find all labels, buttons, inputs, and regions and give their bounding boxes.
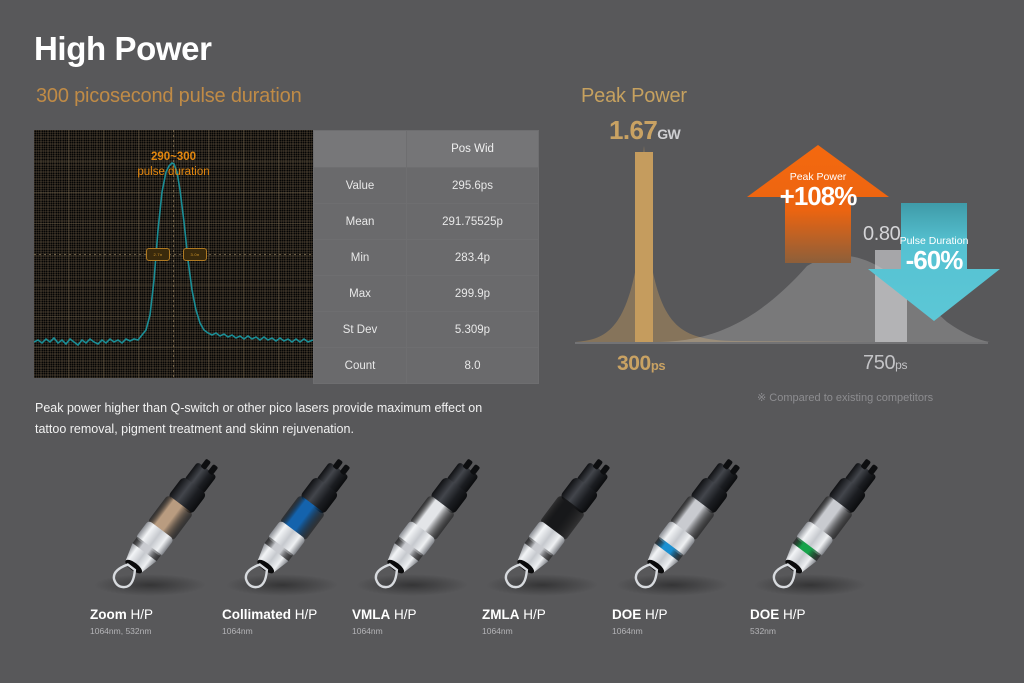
x-tick-competitor: 750ps (863, 352, 907, 375)
handpiece-model: Collimated (222, 607, 291, 622)
handpiece-gallery: Zoom H/P1064nm, 532nmCollimated H/P1064n… (0, 445, 1024, 683)
handpiece-image (612, 445, 762, 605)
x-tick-unit-this-device: ps (651, 358, 665, 373)
row-value: 291.75525p (407, 204, 539, 240)
page-subtitle: 300 picosecond pulse duration (36, 85, 302, 108)
table-header-row: Pos Wid (314, 131, 539, 168)
peak-power-section-title: Peak Power (581, 85, 687, 108)
value-label-this-device: 1.67GW (609, 115, 680, 146)
handpiece-suffix: H/P (783, 607, 806, 622)
row-label: Max (314, 276, 407, 312)
table-row[interactable]: Mean291.75525p (314, 204, 539, 240)
row-label: Mean (314, 204, 407, 240)
handpiece-model: DOE (750, 607, 779, 622)
table-row[interactable]: Max299.9p (314, 276, 539, 312)
slide-root: High Power 300 picosecond pulse duration… (0, 0, 1024, 683)
arrow-down-value: -60% (868, 245, 1000, 276)
table-body: Value295.6psMean291.75525pMin283.4pMax29… (314, 168, 539, 384)
handpiece-image (482, 445, 632, 605)
handpiece-suffix: H/P (295, 607, 318, 622)
handpiece-item[interactable]: DOE H/P532nm (750, 445, 900, 605)
handpiece-item[interactable]: ZMLA H/P1064nm (482, 445, 632, 605)
row-value: 8.0 (407, 348, 539, 384)
table-header: Pos Wid (314, 131, 539, 168)
handpiece-item[interactable]: Zoom H/P1064nm, 532nm (90, 445, 240, 605)
x-tick-number-this-device: 300 (617, 352, 651, 375)
x-tick-this-device: 300ps (617, 352, 665, 376)
table-row[interactable]: Min283.4p (314, 240, 539, 276)
value-number-this-device: 1.67 (609, 115, 657, 145)
bar-this-device (635, 152, 653, 342)
body-copy: Peak power higher than Q-switch or other… (35, 398, 515, 440)
value-unit-this-device: GW (657, 126, 680, 142)
measurement-table: Pos Wid Value295.6psMean291.75525pMin283… (313, 130, 539, 384)
handpiece-item[interactable]: Collimated H/P1064nm (222, 445, 372, 605)
page-title: High Power (34, 30, 212, 68)
handpiece-name: DOE H/P (750, 607, 920, 622)
handpiece-model: Zoom (90, 607, 127, 622)
row-value: 295.6ps (407, 168, 539, 204)
handpiece-wavelength: 532nm (750, 626, 920, 636)
oscilloscope-screen: 290~300 pulse duration 2.7n 3.0n (34, 130, 313, 378)
handpiece-item[interactable]: DOE H/P1064nm (612, 445, 762, 605)
table-row[interactable]: Count8.0 (314, 348, 539, 384)
row-label: Count (314, 348, 407, 384)
chart-baseline-axis (575, 342, 988, 344)
handpiece-image (90, 445, 240, 605)
row-value: 5.309p (407, 312, 539, 348)
table-row[interactable]: St Dev5.309p (314, 312, 539, 348)
chart-footnote: ※ Compared to existing competitors (757, 391, 933, 404)
handpiece-suffix: H/P (523, 607, 546, 622)
scope-waveform-trace (34, 130, 313, 378)
handpiece-item[interactable]: VMLA H/P1064nm (352, 445, 502, 605)
handpiece-image (352, 445, 502, 605)
x-tick-unit-competitor: ps (895, 358, 907, 372)
handpiece-caption: DOE H/P532nm (750, 607, 920, 636)
pulse-duration-decrease-arrow: Pulse Duration -60% (868, 203, 1000, 321)
row-label: St Dev (314, 312, 407, 348)
handpiece-suffix: H/P (131, 607, 154, 622)
scope-cursor-right-marker[interactable]: 3.0n (183, 248, 207, 261)
x-tick-number-competitor: 750 (863, 352, 895, 374)
handpiece-image (222, 445, 372, 605)
row-value: 299.9p (407, 276, 539, 312)
column-header-pos-wid: Pos Wid (407, 131, 539, 168)
row-label: Value (314, 168, 407, 204)
handpiece-suffix: H/P (394, 607, 417, 622)
handpiece-model: ZMLA (482, 607, 520, 622)
handpiece-image (750, 445, 900, 605)
scope-cursor-left-marker[interactable]: 2.7n (146, 248, 170, 261)
table-row[interactable]: Value295.6ps (314, 168, 539, 204)
handpiece-model: DOE (612, 607, 641, 622)
handpiece-model: VMLA (352, 607, 390, 622)
row-value: 283.4p (407, 240, 539, 276)
handpiece-suffix: H/P (645, 607, 668, 622)
column-header-blank (314, 131, 407, 168)
row-label: Min (314, 240, 407, 276)
